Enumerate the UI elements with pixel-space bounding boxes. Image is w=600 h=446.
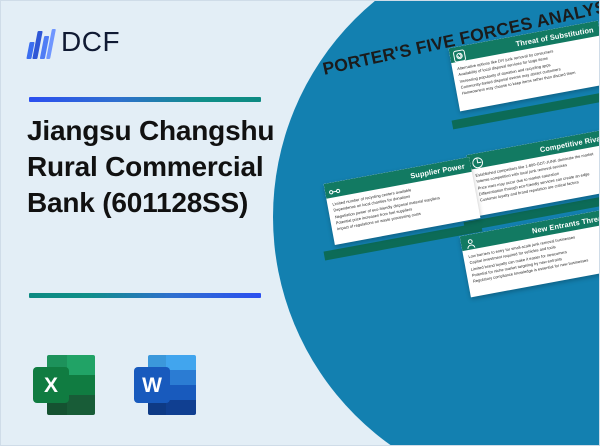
word-file-letter: W bbox=[134, 367, 170, 403]
pie-chart-icon bbox=[470, 155, 485, 170]
brand-logo: DCF bbox=[28, 25, 120, 59]
poster-canvas: DCF Jiangsu Changshu Rural Commercial Ba… bbox=[0, 0, 600, 446]
excel-file-icon[interactable]: X bbox=[31, 353, 95, 417]
left-panel: DCF Jiangsu Changshu Rural Commercial Ba… bbox=[1, 1, 301, 446]
excel-file-letter: X bbox=[33, 367, 69, 403]
handshake-icon bbox=[327, 184, 342, 199]
download-icons: X W bbox=[31, 353, 196, 417]
word-file-icon[interactable]: W bbox=[132, 353, 196, 417]
person-icon bbox=[463, 236, 478, 251]
porter-five-forces-graphic: PORTER'S FIVE FORCES ANALYSIS Threat of … bbox=[301, 1, 600, 446]
recycle-icon bbox=[452, 48, 467, 63]
brand-logo-text: DCF bbox=[61, 28, 120, 56]
divider-top bbox=[29, 97, 261, 102]
page-title: Jiangsu Changshu Rural Commercial Bank (… bbox=[27, 113, 287, 221]
bar-chart-logo-icon bbox=[28, 25, 54, 59]
divider-bottom bbox=[29, 293, 261, 298]
